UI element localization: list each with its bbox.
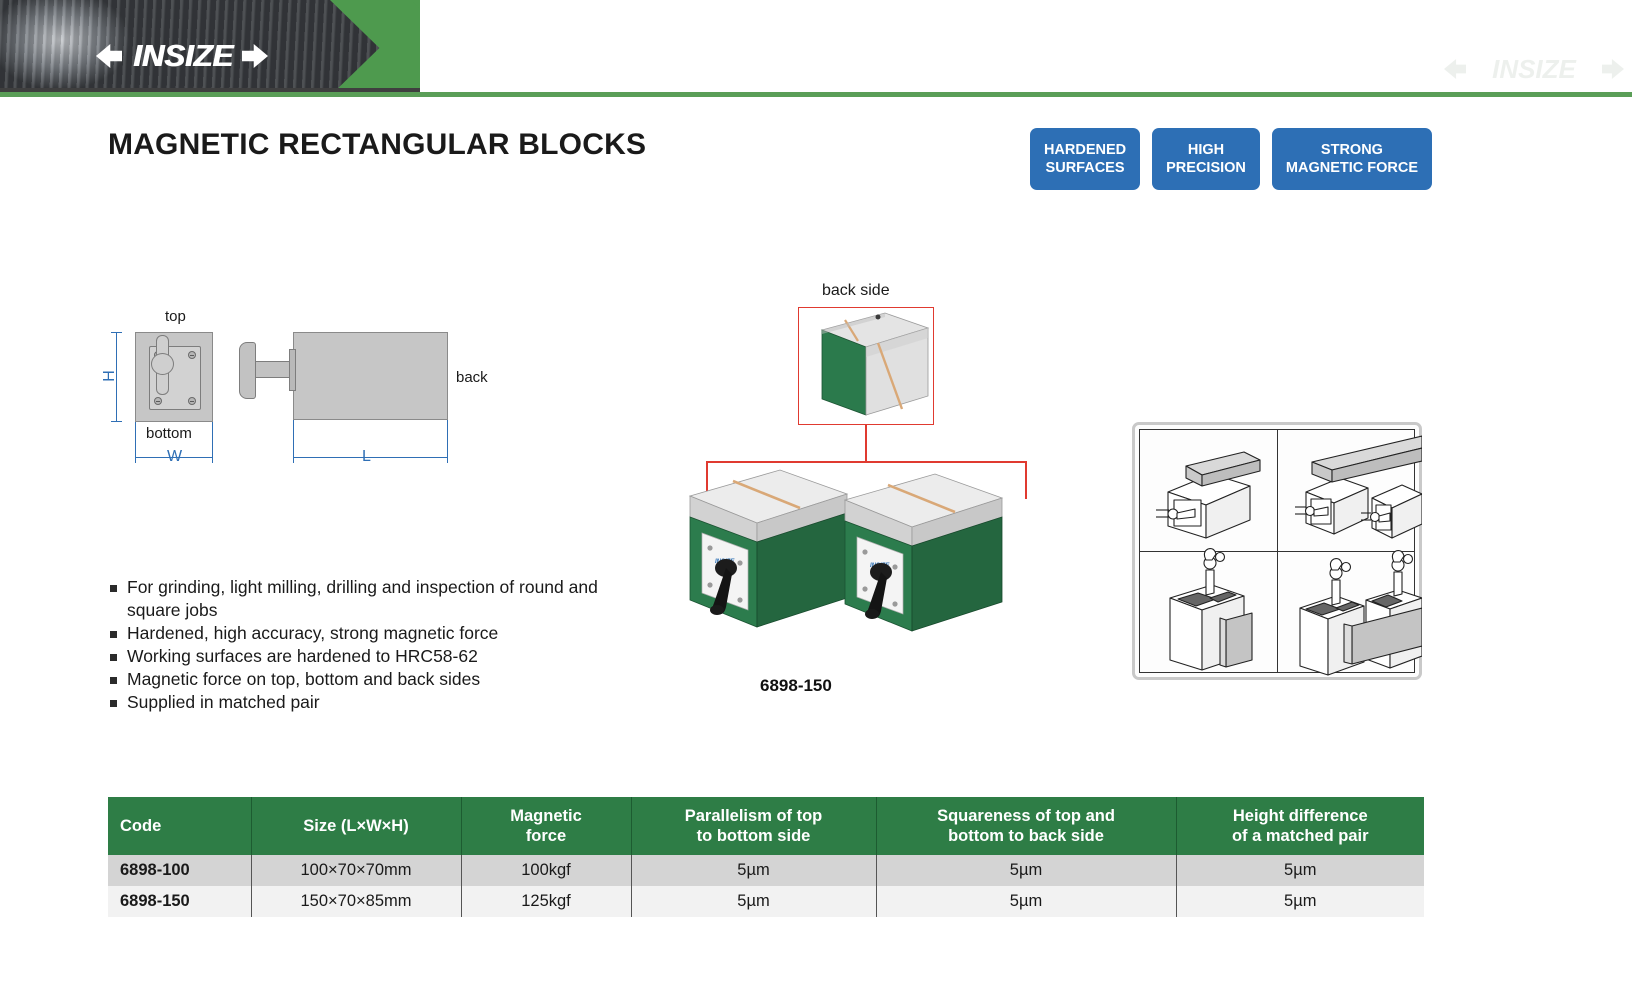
drawing-back-label: back [456, 369, 488, 386]
column-header-code: Code [108, 797, 251, 855]
height-dimension-line [116, 332, 117, 422]
column-header-parallelism: Parallelism of top to bottom side [631, 797, 876, 855]
product-photo-group: back side [670, 280, 1010, 700]
back-side-label: back side [822, 282, 890, 300]
feature-badges: HARDENED SURFACES HIGH PRECISION STRONG … [1030, 128, 1432, 190]
product-caption: 6898-150 [760, 676, 832, 696]
badge-high-precision: HIGH PRECISION [1152, 128, 1260, 190]
cell-squareness: 5µm [876, 855, 1176, 886]
column-header-squareness: Squareness of top and bottom to back sid… [876, 797, 1176, 855]
feature-text: For grinding, light milling, drilling an… [127, 576, 630, 622]
callout-drop-left [706, 461, 708, 491]
table-header-row: Code Size (L×W×H) Magnetic force Paralle… [108, 797, 1424, 855]
page-title: MAGNETIC RECTANGULAR BLOCKS [108, 128, 646, 162]
technical-drawing: top bottom H W L back [108, 305, 508, 480]
list-item: Working surfaces are hardened to HRC58-6… [110, 645, 630, 668]
badge-strong-magnetic-force: STRONG MAGNETIC FORCE [1272, 128, 1432, 190]
column-header-size: Size (L×W×H) [251, 797, 461, 855]
cell-size: 100×70×70mm [251, 855, 461, 886]
banner-green-rule [0, 92, 1632, 97]
bullet-square-icon [110, 585, 117, 592]
front-view-body [135, 332, 213, 422]
application-grid [1139, 429, 1415, 673]
cell-code: 6898-100 [108, 855, 251, 886]
cell-height-difference: 5µm [1176, 886, 1424, 917]
back-side-callout-box [798, 307, 934, 425]
specifications-table: Code Size (L×W×H) Magnetic force Paralle… [108, 797, 1424, 917]
cell-parallelism: 5µm [631, 855, 876, 886]
watermark-right-arrow-icon [1602, 59, 1624, 79]
feature-text: Supplied in matched pair [127, 691, 320, 714]
column-header-height-difference: Height difference of a matched pair [1176, 797, 1424, 855]
list-item: Supplied in matched pair [110, 691, 630, 714]
side-view-body [293, 332, 448, 420]
feature-text: Magnetic force on top, bottom and back s… [127, 668, 480, 691]
svg-text:INSIZE: INSIZE [870, 563, 890, 569]
table-row: 6898-150 150×70×85mm 125kgf 5µm 5µm 5µm [108, 886, 1424, 917]
cell-parallelism: 5µm [631, 886, 876, 917]
cell-code: 6898-150 [108, 886, 251, 917]
feature-text: Hardened, high accuracy, strong magnetic… [127, 622, 498, 645]
bullet-square-icon [110, 700, 117, 707]
side-view-handle-plate [289, 349, 296, 391]
application-illustrations [1140, 430, 1422, 680]
application-single-block-flat [1156, 452, 1260, 538]
list-item: For grinding, light milling, drilling an… [110, 576, 630, 622]
application-upright-single [1170, 549, 1252, 670]
cell-height-difference: 5µm [1176, 855, 1424, 886]
insize-logo: INSIZE [96, 38, 268, 74]
front-knob-bulge [151, 353, 174, 375]
bullet-square-icon [110, 654, 117, 661]
application-upright-pair [1300, 551, 1422, 675]
screw-icon [188, 351, 196, 359]
list-item: Magnetic force on top, bottom and back s… [110, 668, 630, 691]
length-dimension-line [293, 457, 448, 458]
application-pair-blocks-long-bar [1295, 436, 1422, 538]
product-left-view: INSIZE [690, 470, 847, 627]
width-dimension-line [135, 457, 213, 458]
list-item: Hardened, high accuracy, strong magnetic… [110, 622, 630, 645]
cell-size: 150×70×85mm [251, 886, 461, 917]
badge-hardened-surfaces: HARDENED SURFACES [1030, 128, 1140, 190]
bullet-square-icon [110, 677, 117, 684]
product-right-view: INSIZE [845, 474, 1002, 631]
cell-magnetic-force: 125kgf [461, 886, 631, 917]
column-header-magnetic-force: Magnetic force [461, 797, 631, 855]
watermark-wordmark: INSIZE [1466, 52, 1602, 86]
cell-squareness: 5µm [876, 886, 1176, 917]
application-examples-panel [1132, 422, 1422, 680]
svg-text:INSIZE: INSIZE [715, 559, 735, 565]
drawing-top-label: top [165, 308, 186, 325]
callout-drop-right [1025, 461, 1027, 499]
screw-icon [154, 397, 162, 405]
logo-wordmark: INSIZE [118, 38, 248, 74]
insize-watermark-logo: INSIZE [1444, 52, 1624, 86]
feature-text: Working surfaces are hardened to HRC58-6… [127, 645, 478, 668]
callout-connector-vertical [865, 425, 867, 462]
cell-magnetic-force: 100kgf [461, 855, 631, 886]
table-row: 6898-100 100×70×70mm 100kgf 5µm 5µm 5µm [108, 855, 1424, 886]
header-banner: INSIZE INSIZE [0, 0, 1632, 96]
bullet-square-icon [110, 631, 117, 638]
drawing-bottom-label: bottom [146, 425, 192, 442]
datasheet-page: INSIZE INSIZE MAGNETIC RECTANGULAR BLOCK… [0, 0, 1632, 1003]
side-view-handle [239, 342, 256, 399]
callout-connector-horizontal [706, 461, 1026, 463]
feature-list: For grinding, light milling, drilling an… [110, 576, 630, 714]
watermark-left-arrow-icon [1444, 59, 1466, 79]
screw-icon [188, 397, 196, 405]
